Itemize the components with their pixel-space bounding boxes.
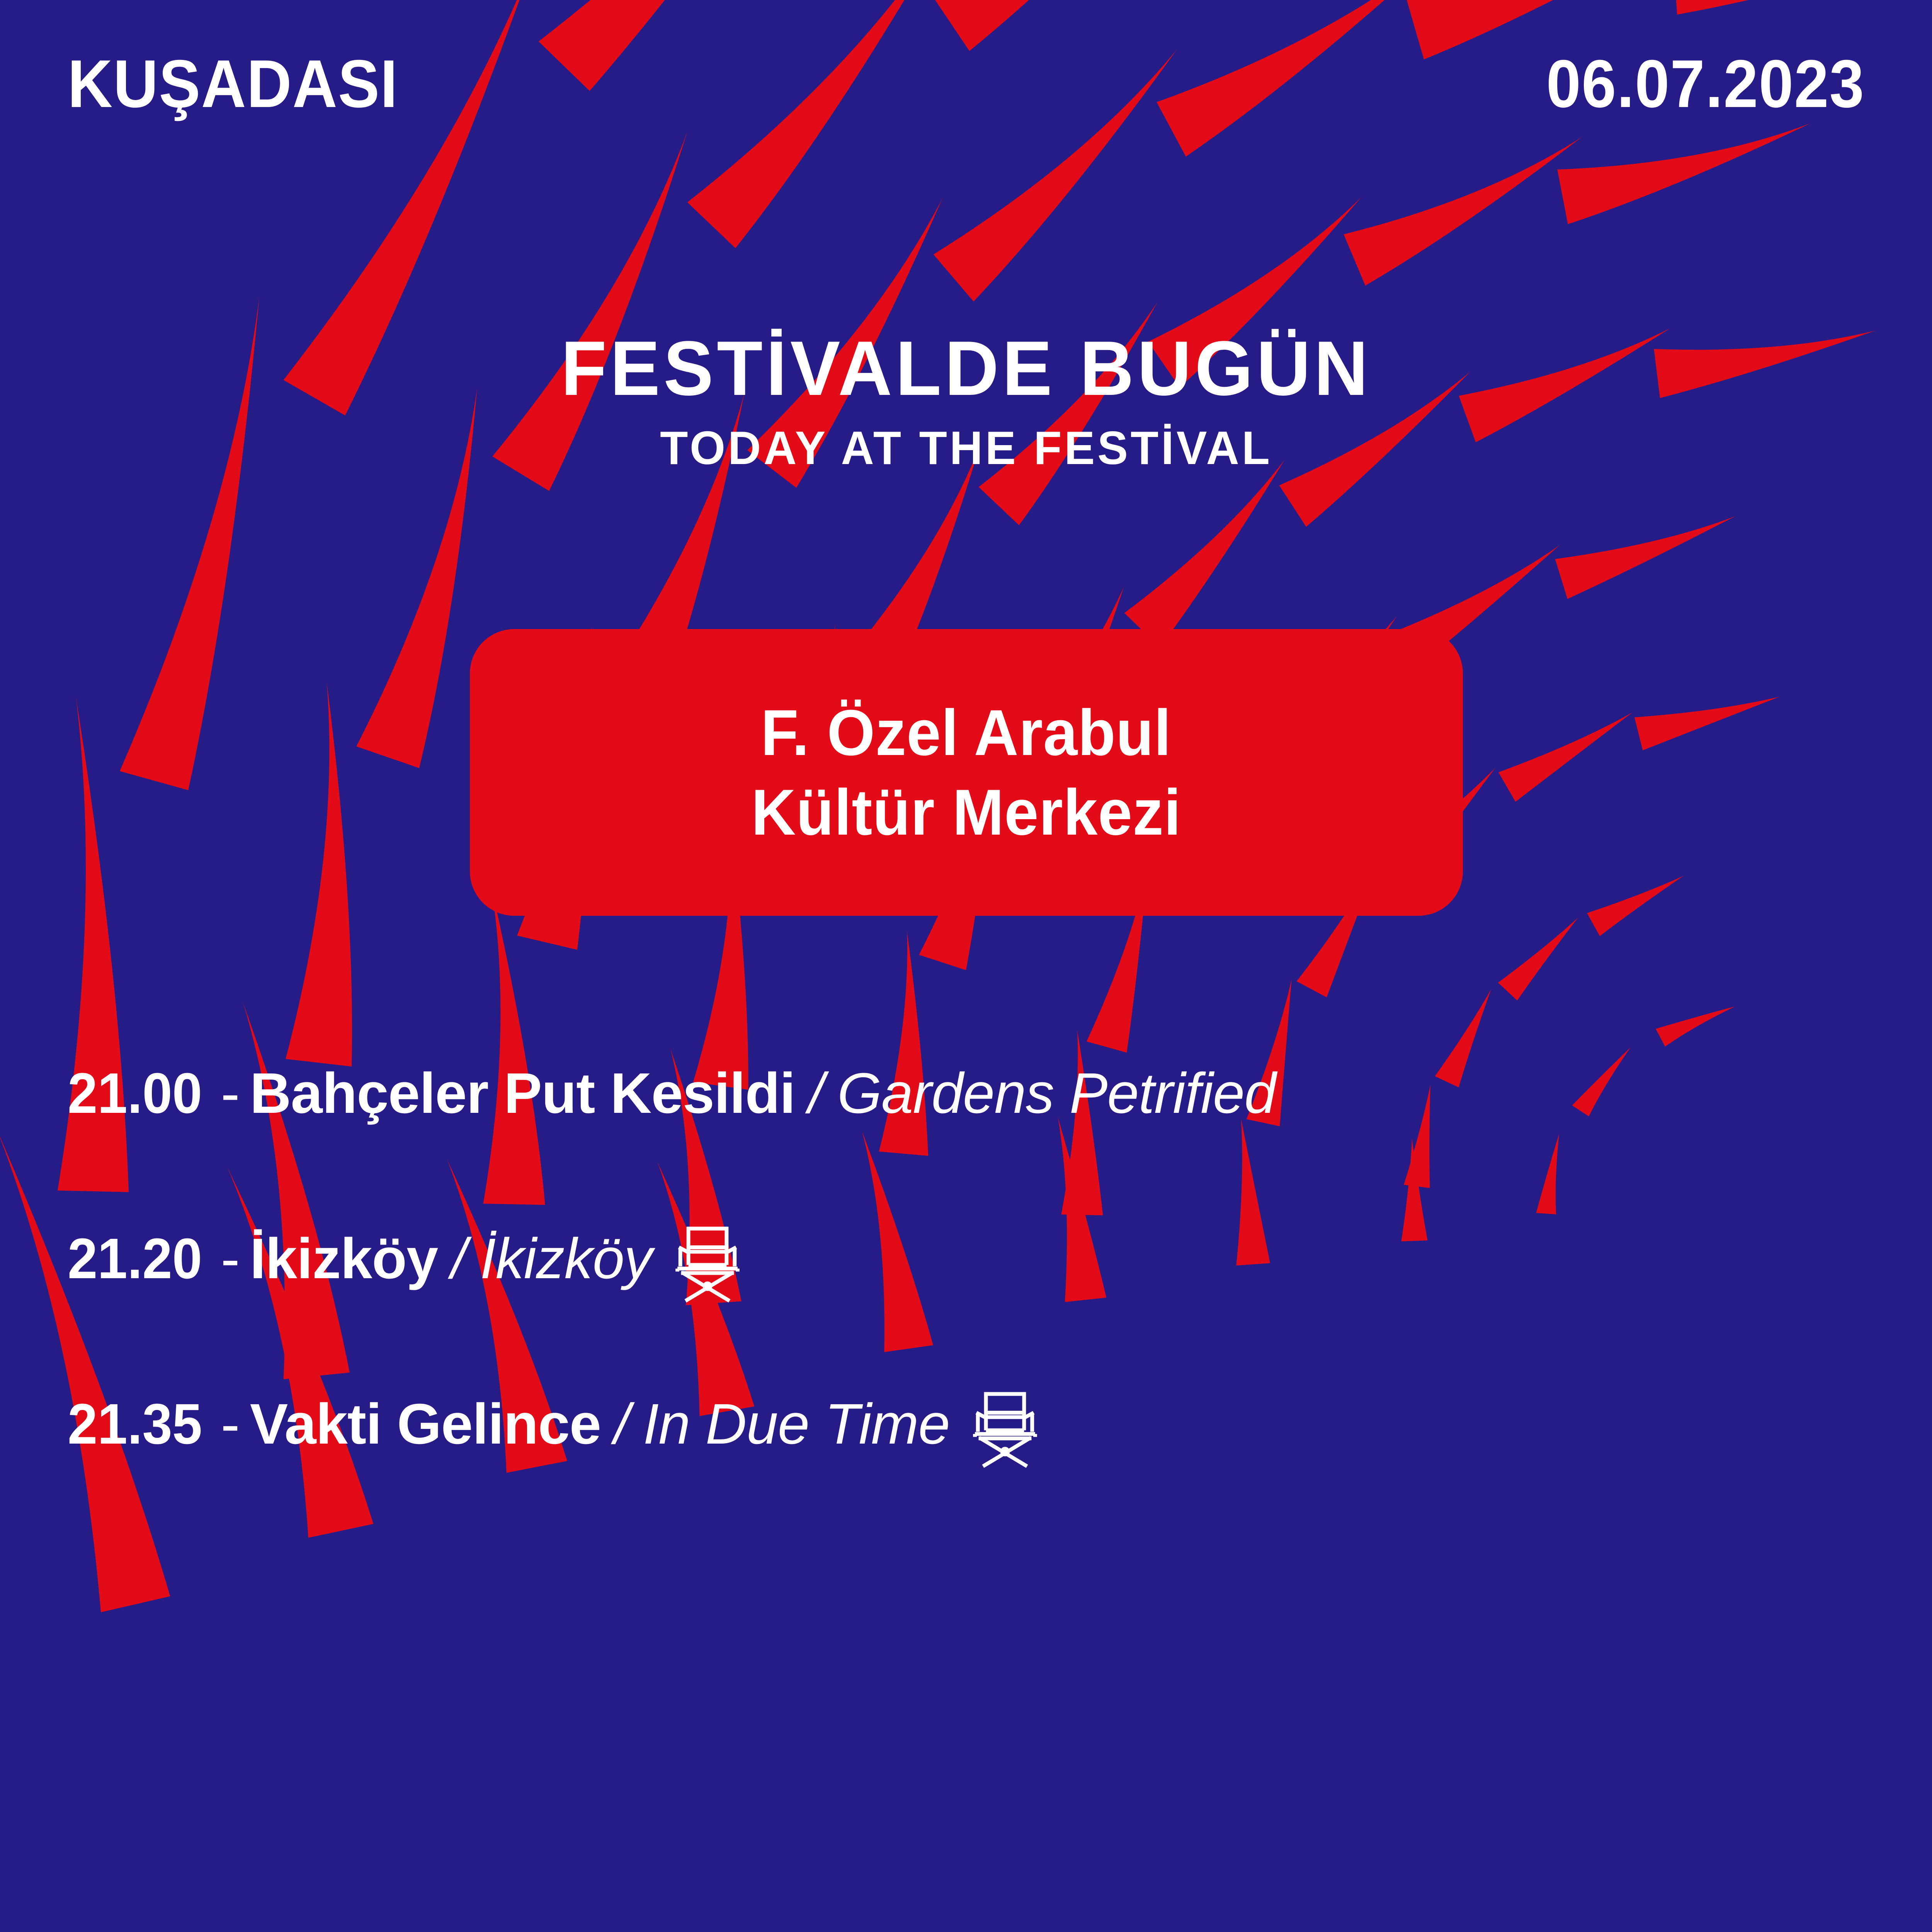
film-title-english: İkizköy	[480, 1226, 652, 1292]
screening-time: 21.35	[68, 1391, 202, 1457]
title-language-separator: /	[601, 1391, 643, 1457]
time-title-separator: -	[211, 1391, 250, 1457]
film-title-turkish: Bahçeler Put Kesildi	[250, 1061, 795, 1126]
venue-name-line-1: F. Özel Arabul	[761, 696, 1172, 769]
film-title-english: In Due Time	[643, 1391, 950, 1457]
film-title-turkish: Vakti Gelince	[250, 1391, 601, 1457]
schedule-row: 21.20-İkizköy/İkizköy	[68, 1201, 1865, 1317]
poster-header: KUŞADASI 06.07.2023	[0, 50, 1932, 118]
schedule-row: 21.00-Bahçeler Put Kesildi/Gardens Petri…	[68, 1036, 1865, 1151]
venue-badge: F. Özel Arabul Kültür Merkezi	[470, 629, 1463, 916]
film-title-turkish: İkizköy	[250, 1226, 438, 1292]
red-curved-blades-pattern	[0, 0, 1932, 1932]
schedule-list: 21.00-Bahçeler Put Kesildi/Gardens Petri…	[0, 1036, 1932, 1482]
title-block: FESTİVALDE BUGÜN TODAY AT THE FESTİVAL	[0, 328, 1932, 474]
date-label: 06.07.2023	[1546, 50, 1865, 118]
page-subtitle: TODAY AT THE FESTİVAL	[29, 422, 1903, 474]
time-title-separator: -	[211, 1226, 250, 1292]
directors-chair-icon	[968, 1383, 1042, 1472]
city-label: KUŞADASI	[68, 50, 398, 118]
schedule-row: 21.35-Vakti Gelince/In Due Time	[68, 1366, 1865, 1482]
directors-chair-icon	[671, 1218, 744, 1306]
screening-time: 21.00	[68, 1061, 202, 1126]
venue-name-line-2: Kültür Merkezi	[751, 776, 1181, 849]
festival-poster: KUŞADASI 06.07.2023 FESTİVALDE BUGÜN TOD…	[0, 0, 1932, 1932]
title-language-separator: /	[438, 1226, 480, 1292]
title-language-separator: /	[795, 1061, 837, 1126]
venue-badge-wrapper: F. Özel Arabul Kültür Merkezi	[0, 629, 1932, 916]
time-title-separator: -	[211, 1061, 250, 1126]
page-title: FESTİVALDE BUGÜN	[29, 328, 1903, 409]
film-title-english: Gardens Petrified	[837, 1061, 1276, 1126]
screening-time: 21.20	[68, 1226, 202, 1292]
